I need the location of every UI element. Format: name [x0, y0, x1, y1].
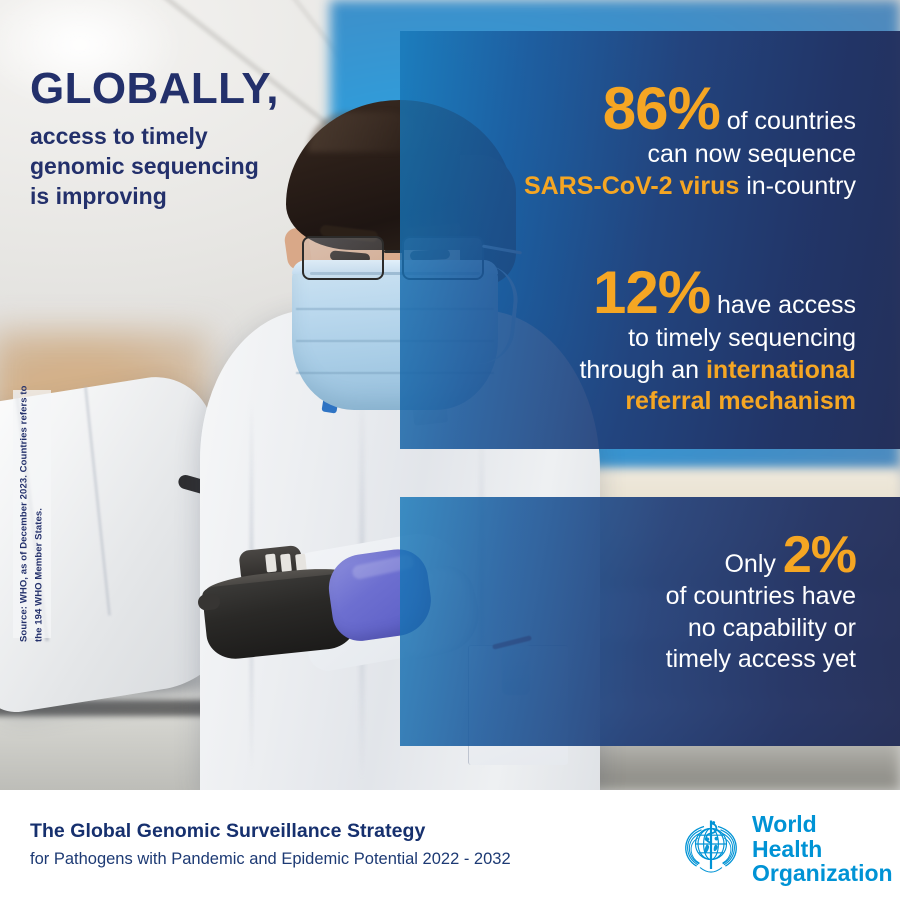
who-logo-text: World Health Organization — [752, 812, 893, 885]
source-note-line-2: the 194 WHO Member States. — [32, 386, 47, 643]
headline-title: GLOBALLY, — [30, 66, 390, 112]
who-logo-line-1: World Health — [752, 812, 893, 861]
headline-sub-line-2: genomic sequencing — [30, 152, 390, 182]
stat-12-highlight-2: referral mechanism — [625, 387, 856, 415]
stat-12-value: 12% — [593, 259, 710, 326]
stat-86-line-3-rest: in-country — [739, 172, 856, 200]
stat-2-value: 2% — [783, 526, 856, 584]
stat-2-line-3: no capability or — [456, 613, 856, 645]
stat-2-line-1: Only 2% — [456, 529, 856, 581]
stat-12-line-1: 12% have access — [436, 263, 856, 323]
footer-subtitle: for Pathogens with Pandemic and Epidemic… — [30, 850, 511, 869]
who-logo: World Health Organization — [680, 818, 880, 880]
lens-left — [302, 236, 384, 280]
source-note-line-1: Source: WHO, as of December 2023. Countr… — [17, 386, 32, 643]
stat-12-line-3-prefix: through an — [579, 356, 706, 384]
statistics-panel-top: 86% of countries can now sequence SARS-C… — [400, 31, 900, 449]
who-emblem-icon — [680, 818, 742, 881]
stat-86-line-1-text: of countries — [720, 107, 856, 135]
stat-2-line-2: of countries have — [456, 581, 856, 613]
infographic-poster: GLOBALLY, access to timely genomic seque… — [0, 0, 900, 899]
footer-title: The Global Genomic Surveillance Strategy — [30, 820, 511, 843]
footer-text-block: The Global Genomic Surveillance Strategy… — [30, 820, 511, 869]
stat-86-line-3: SARS-CoV-2 virus in-country — [436, 171, 856, 203]
headline-block: GLOBALLY, access to timely genomic seque… — [30, 66, 390, 212]
source-note-text: Source: WHO, as of December 2023. Countr… — [17, 386, 46, 643]
stat-block-86: 86% of countries can now sequence SARS-C… — [436, 79, 856, 202]
stat-86-line-2: can now sequence — [436, 139, 856, 171]
stat-12-highlight-1: international — [706, 356, 856, 384]
stat-12-line-3: through an international — [436, 355, 856, 387]
stat-2-line-4: timely access yet — [456, 644, 856, 676]
stat-12-line-2: to timely sequencing — [436, 323, 856, 355]
stat-2-prefix: Only — [724, 550, 782, 578]
rotor-clip — [265, 554, 277, 573]
source-note-strip: Source: WHO, as of December 2023. Countr… — [13, 390, 51, 638]
who-logo-line-2: Organization — [752, 861, 893, 885]
statistics-panel-bottom: Only 2% of countries have no capability … — [400, 497, 900, 746]
stat-12-line-4: referral mechanism — [436, 386, 856, 418]
rotor-clip — [280, 554, 292, 573]
stat-12-line-1-text: have access — [710, 291, 856, 319]
headline-sub-line-3: is improving — [30, 182, 390, 212]
stat-86-highlight: SARS-CoV-2 virus — [524, 172, 739, 200]
stat-86-line-1: 86% of countries — [436, 79, 856, 139]
headline-subtitle: access to timely genomic sequencing is i… — [30, 122, 390, 212]
stat-86-value: 86% — [603, 75, 720, 142]
stat-block-12: 12% have access to timely sequencing thr… — [436, 263, 856, 418]
headline-sub-line-1: access to timely — [30, 122, 390, 152]
stat-block-2: Only 2% of countries have no capability … — [456, 529, 856, 676]
